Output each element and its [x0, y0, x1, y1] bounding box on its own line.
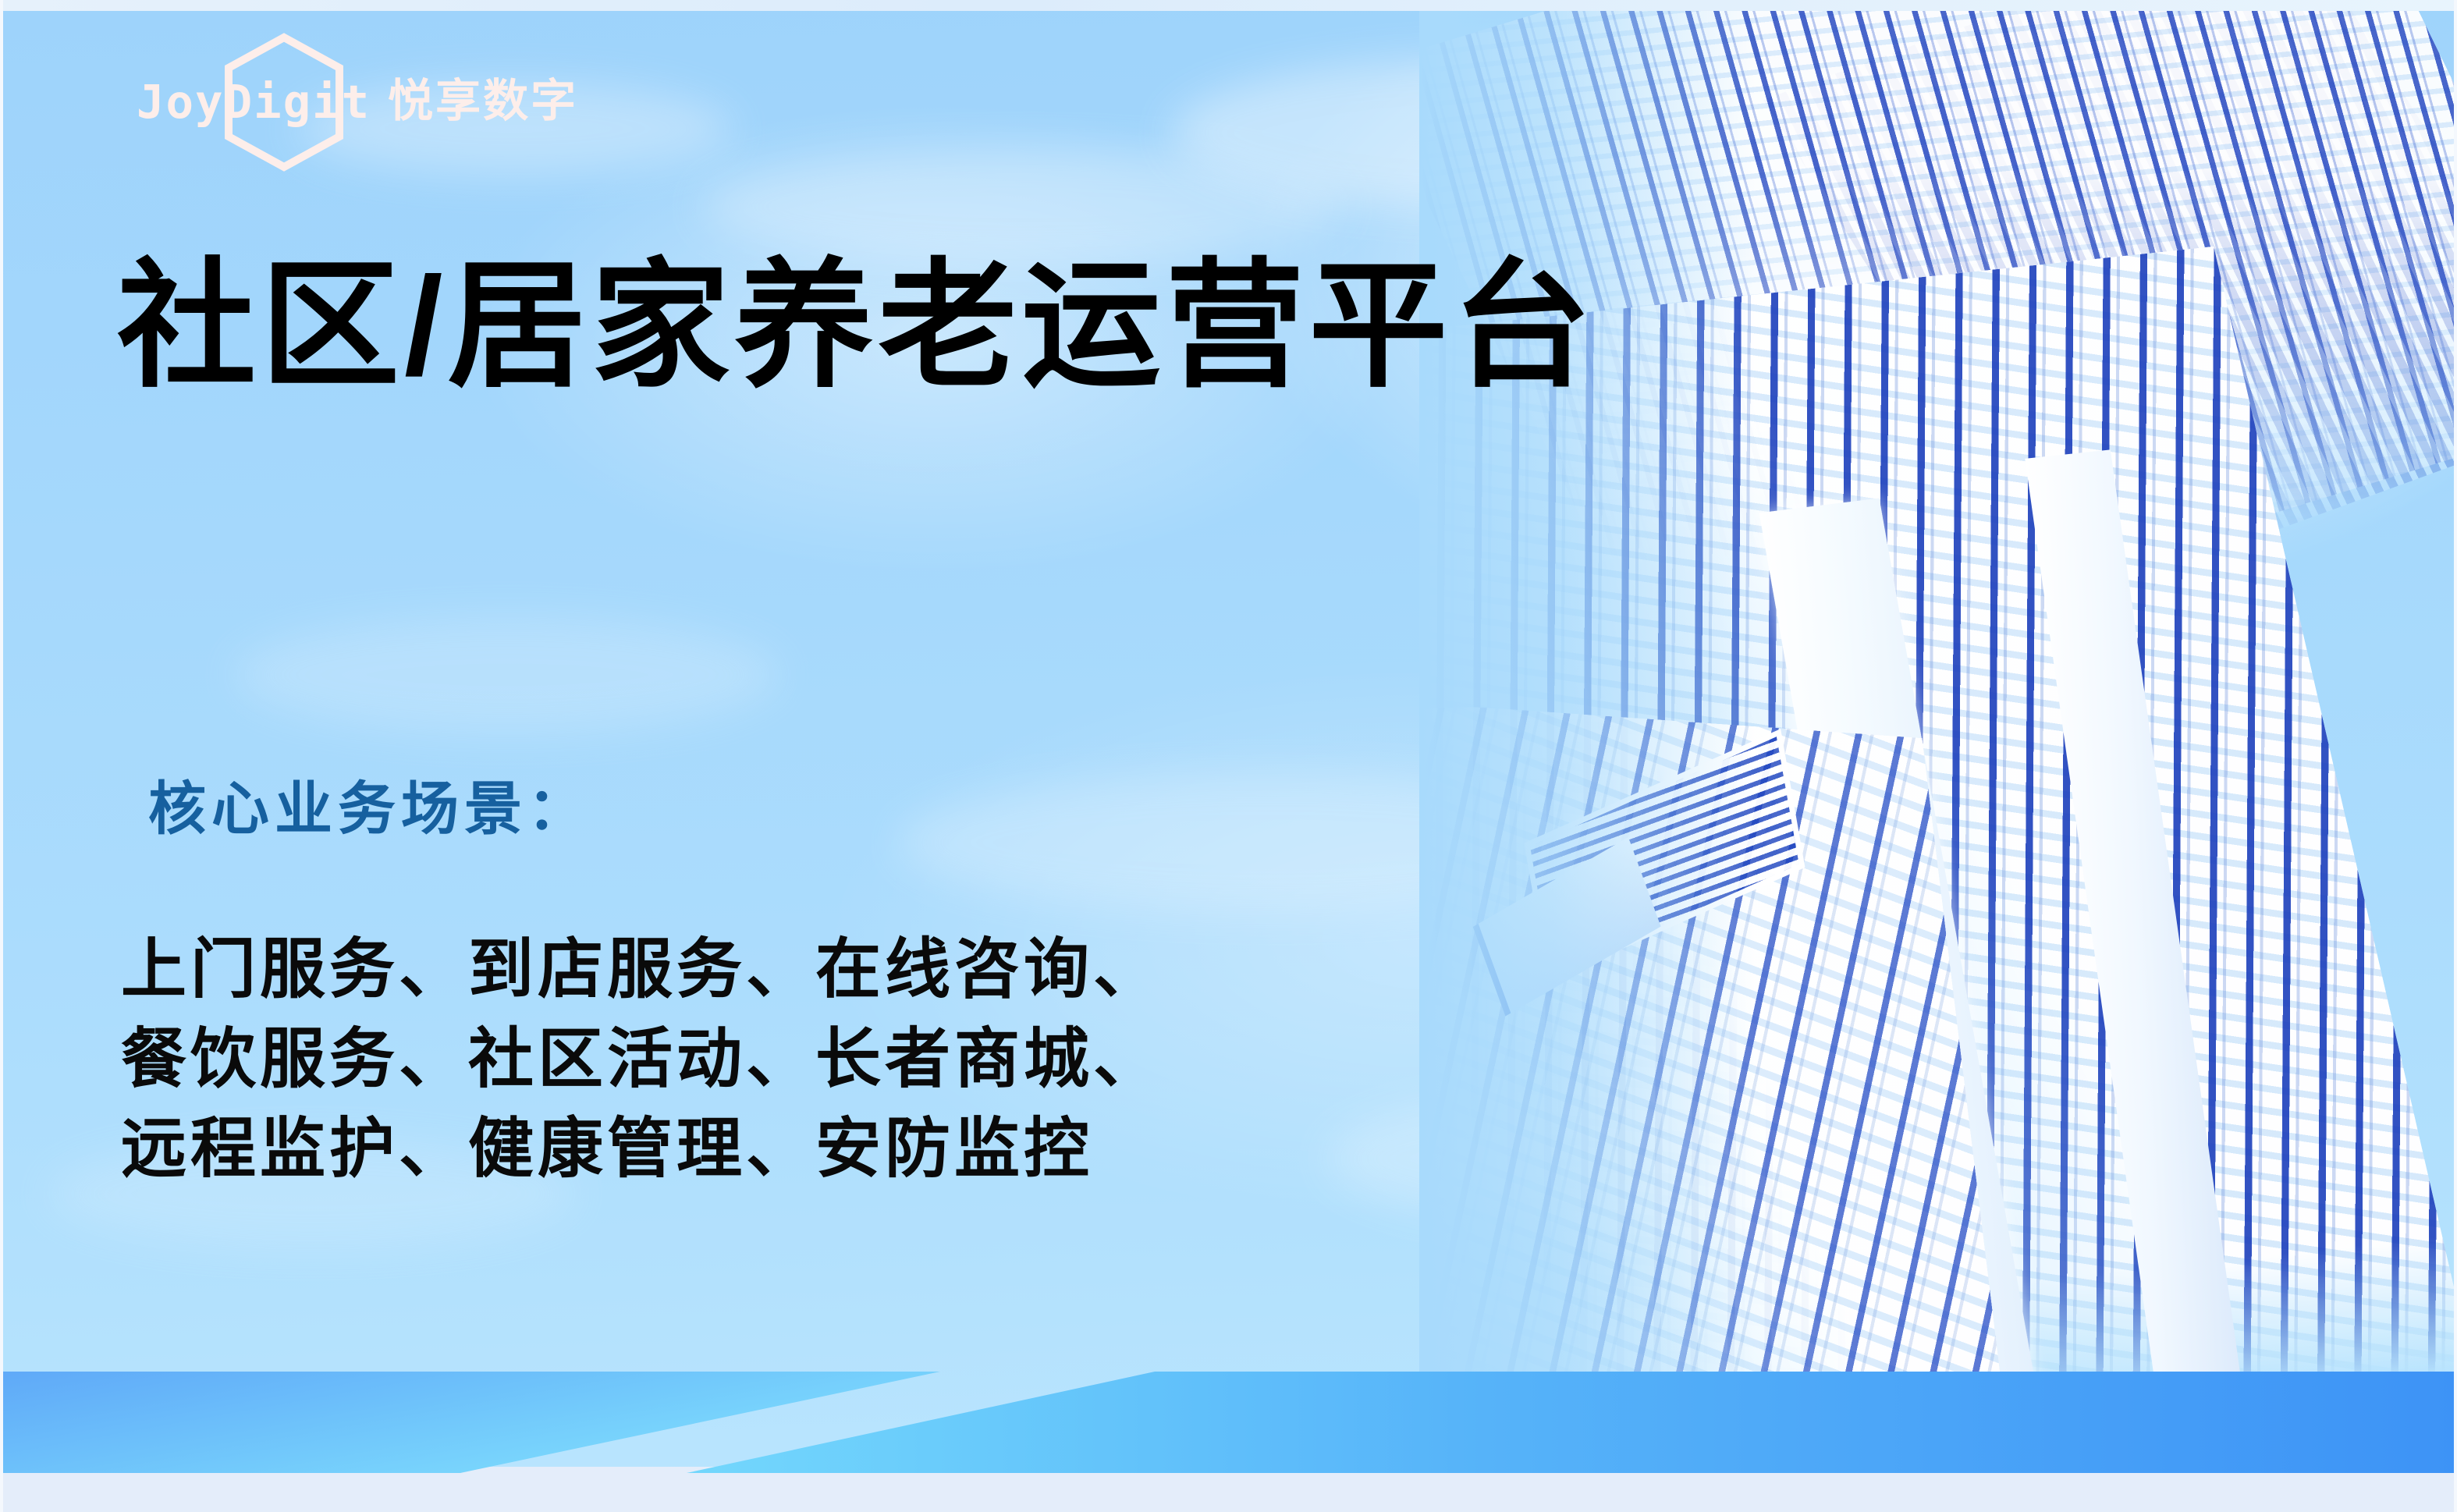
- scenario-line: 远程监护、健康管理、安防监控: [121, 1104, 1163, 1194]
- brand-logo[interactable]: JoyDigit 悦享数字: [137, 70, 578, 133]
- page-title: 社区/居家养老运营平台: [117, 254, 1596, 399]
- photo-edge-fade: [1419, 8, 1755, 1404]
- frame-right-edge: [2454, 0, 2457, 1512]
- slide-root: JoyDigit 悦享数字 社区/居家养老运营平台 核心业务场景： 上门服务、到…: [0, 0, 2457, 1512]
- top-rail: [0, 0, 2457, 11]
- frame-left-edge: [0, 0, 3, 1512]
- footer-decorative-band: [0, 1342, 2457, 1512]
- core-scenarios-list: 上门服务、到店服务、在线咨询、 餐饮服务、社区活动、长者商城、 远程监护、健康管…: [121, 925, 1163, 1194]
- scenario-line: 上门服务、到店服务、在线咨询、: [121, 925, 1163, 1014]
- skyscraper-photo: [1419, 8, 2457, 1404]
- cloud-wisp: [234, 616, 780, 733]
- brand-name-cn: 悦享数字: [388, 79, 578, 124]
- core-scenarios-heading: 核心业务场景：: [148, 780, 591, 838]
- brand-wordmark: JoyDigit: [137, 79, 371, 125]
- scenario-line: 餐饮服务、社区活动、长者商城、: [121, 1014, 1163, 1104]
